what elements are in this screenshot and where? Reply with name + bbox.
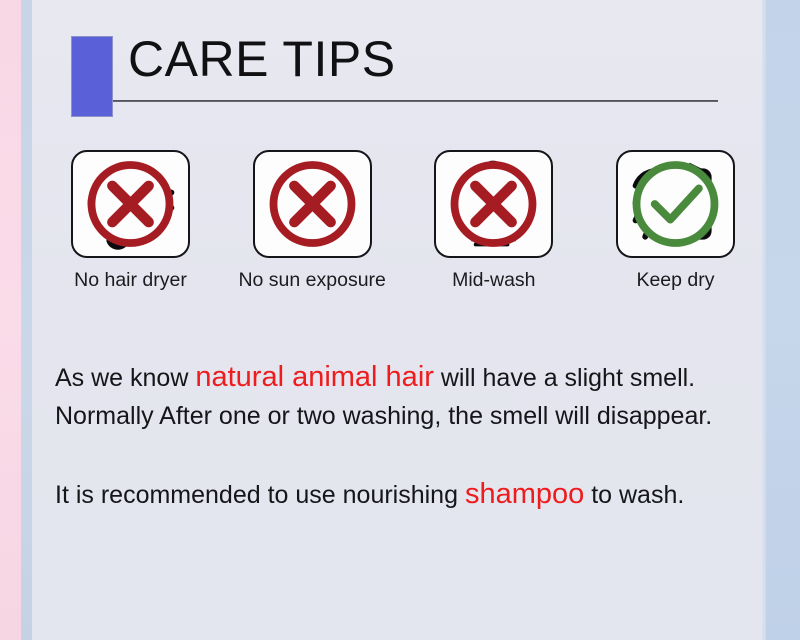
care-tips-page: CARE TIPS (0, 0, 800, 640)
forbidden-x-badge (436, 152, 551, 256)
care-item-label: No hair dryer (74, 269, 187, 292)
left-pink-edge-strip (0, 0, 21, 640)
care-description: As we know natural animal hair will have… (55, 358, 745, 514)
icon-box-no-sun-exposure (253, 150, 372, 258)
care-paragraph-1: As we know natural animal hair will have… (55, 358, 745, 435)
care-item-no-hair-dryer: No hair dryer (71, 150, 190, 292)
title-divider-rule (113, 100, 718, 102)
paragraph-2-after: to wash. (584, 481, 684, 509)
forbidden-x-badge (73, 152, 188, 256)
care-icon-row: No hair dryer (71, 150, 735, 292)
paragraph-2-before: It is recommended to use nourishing (55, 481, 465, 509)
title-accent-bar (71, 36, 113, 117)
icon-box-keep-dry (616, 150, 735, 258)
paragraph-2-highlight: shampoo (465, 478, 584, 510)
allowed-check-badge (618, 152, 733, 256)
care-item-mid-wash: Mid-wash (434, 150, 553, 292)
forbidden-x-badge (255, 152, 370, 256)
care-item-label: Keep dry (636, 269, 714, 292)
left-lavender-edge-strip (21, 0, 32, 640)
icon-box-no-hair-dryer (71, 150, 190, 258)
right-blue-edge-strip (766, 0, 800, 640)
paragraph-1-highlight: natural animal hair (195, 361, 434, 393)
care-item-label: No sun exposure (238, 269, 385, 292)
icon-box-mid-wash (434, 150, 553, 258)
paragraph-1-before: As we know (55, 364, 195, 392)
page-header: CARE TIPS (71, 36, 721, 118)
care-item-label: Mid-wash (452, 269, 535, 292)
care-item-keep-dry: Keep dry (616, 150, 735, 292)
care-paragraph-2: It is recommended to use nourishing sham… (55, 475, 745, 514)
care-item-no-sun-exposure: No sun exposure (253, 150, 372, 292)
page-title: CARE TIPS (128, 28, 396, 91)
